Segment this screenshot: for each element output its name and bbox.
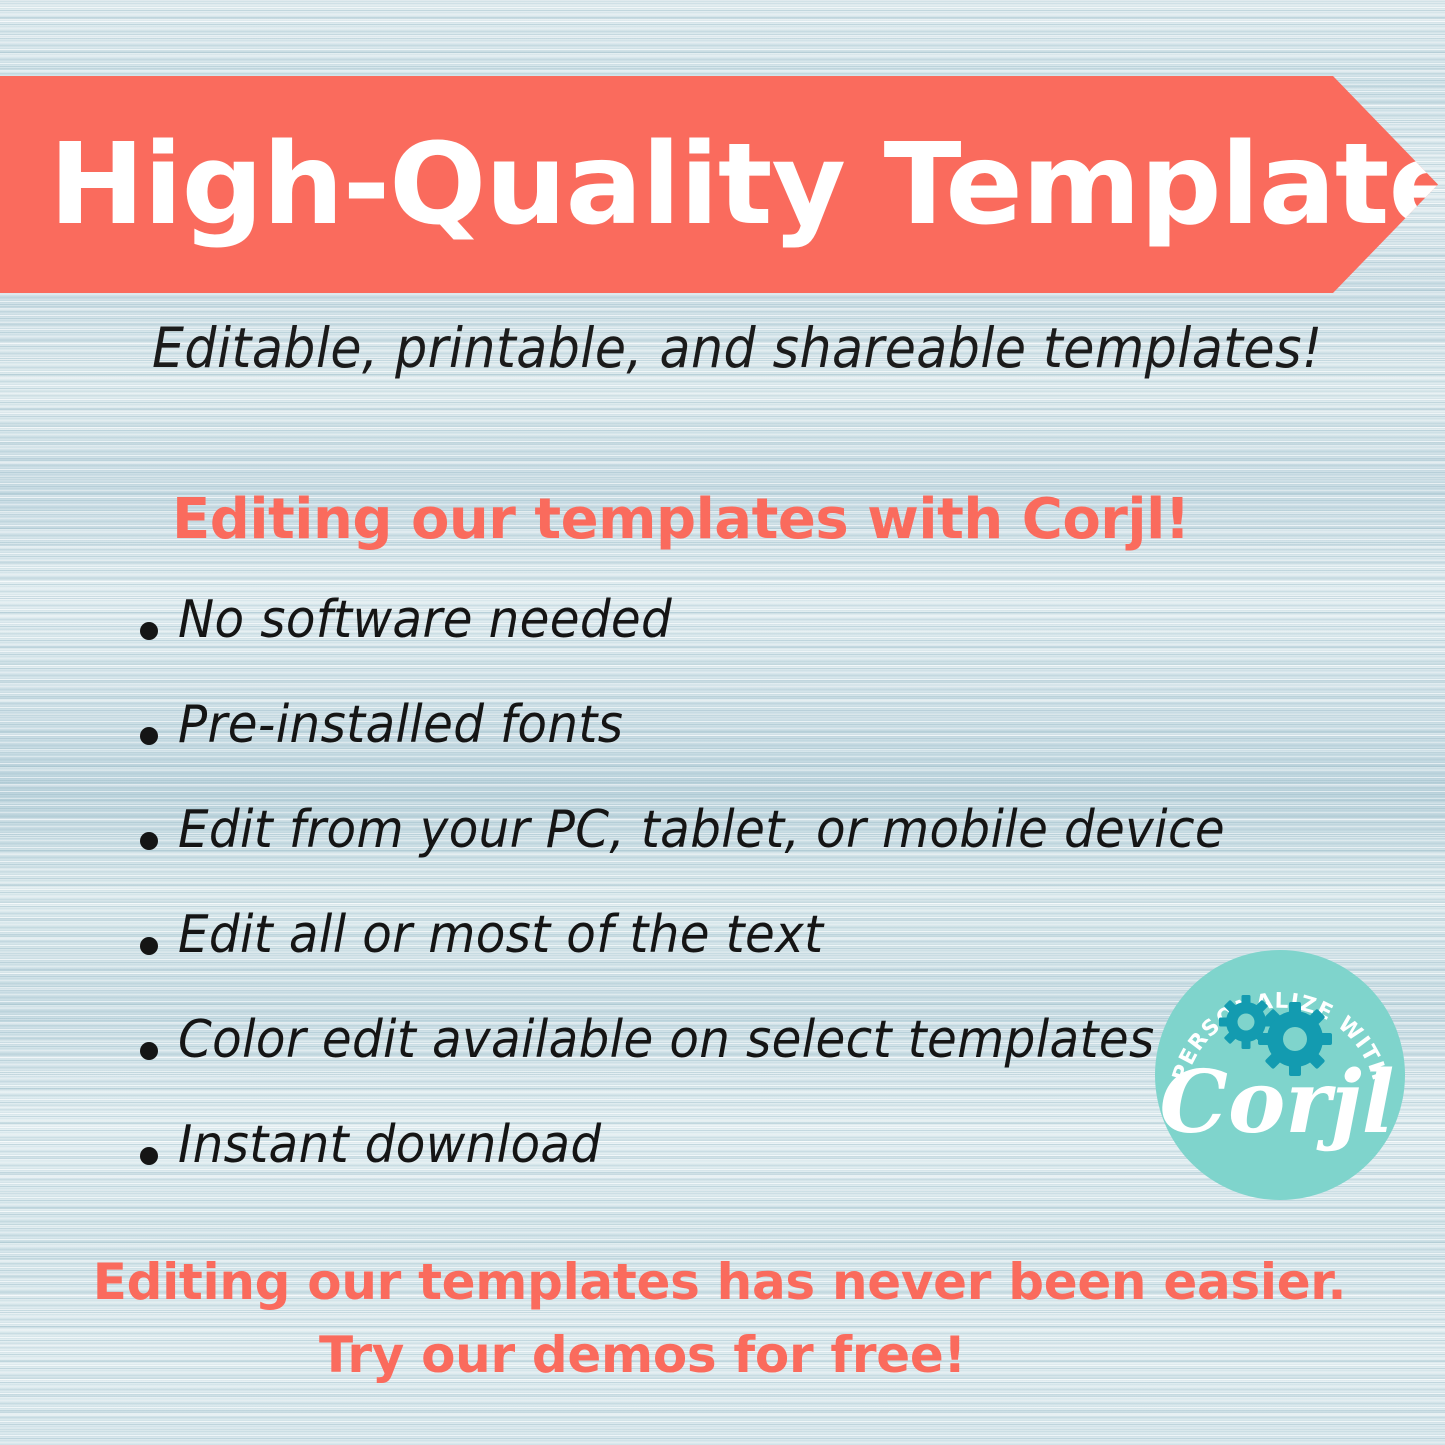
list-item: No software needed: [140, 594, 1270, 699]
list-item: Color edit available on select templates: [140, 1014, 1270, 1119]
bullet-icon: [140, 622, 158, 640]
badge-brand-text: Corjl: [1160, 1052, 1395, 1153]
list-item-label: Instant download: [178, 1119, 601, 1171]
list-item-label: Color edit available on select templates: [178, 1014, 1155, 1066]
corjl-badge: PERSONALIZE WITH: [1155, 950, 1405, 1200]
footer-line-1: Editing our templates has never been eas…: [0, 1246, 1445, 1319]
list-item-label: Edit all or most of the text: [178, 909, 823, 961]
list-item: Instant download: [140, 1119, 1270, 1224]
list-item-label: Pre-installed fonts: [178, 699, 623, 751]
bullet-icon: [140, 937, 158, 955]
list-item: Edit all or most of the text: [140, 909, 1270, 1014]
list-item: Edit from your PC, tablet, or mobile dev…: [140, 804, 1270, 909]
page-title: High-Quality Templates: [0, 129, 1445, 241]
feature-list: No software needed Pre-installed fonts E…: [140, 594, 1270, 1224]
bullet-icon: [140, 832, 158, 850]
arrow-banner: High-Quality Templates: [0, 76, 1438, 293]
bullet-icon: [140, 1042, 158, 1060]
list-item: Pre-installed fonts: [140, 699, 1270, 804]
list-item-label: Edit from your PC, tablet, or mobile dev…: [178, 804, 1225, 856]
footer-line-2: Try our demos for free!: [0, 1319, 1445, 1392]
section-heading: Editing our templates with Corjl!: [172, 487, 1190, 552]
subtitle-text: Editable, printable, and shareable templ…: [152, 316, 1323, 380]
bullet-icon: [140, 1147, 158, 1165]
footer: Editing our templates has never been eas…: [0, 1246, 1445, 1391]
bullet-icon: [140, 727, 158, 745]
list-item-label: No software needed: [178, 594, 672, 646]
